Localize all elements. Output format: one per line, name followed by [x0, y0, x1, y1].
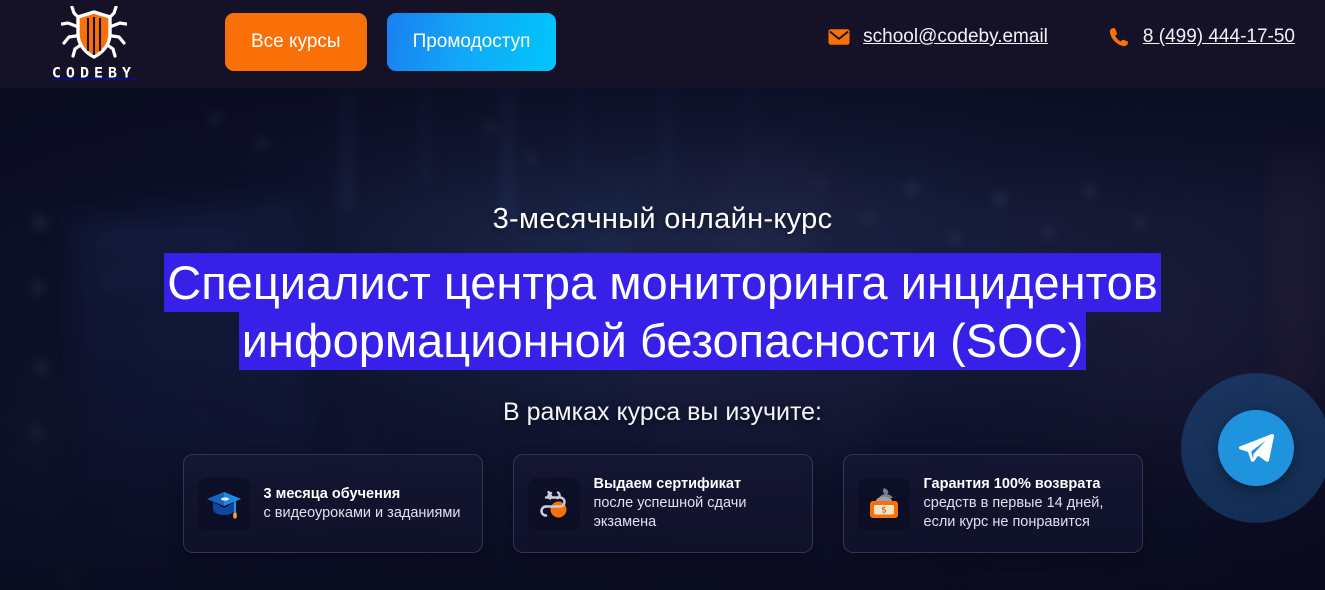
feature-card-guarantee[interactable]: $ Гарантия 100% возврата средств в первы… — [843, 454, 1143, 553]
feature-card-title: 3 месяца обучения — [264, 485, 461, 504]
hero-eyebrow: 3-месячный онлайн-курс — [493, 203, 833, 236]
feature-card-desc: после успешной сдачи экзамена — [594, 494, 798, 532]
brand-logo[interactable]: CODEBY — [42, 4, 146, 84]
feature-card-desc: с видеоуроками и заданиями — [264, 504, 461, 523]
phone-icon — [1108, 26, 1130, 48]
money-back-icon: $ — [858, 478, 910, 530]
page-title: Специалист центра мониторинга инцидентов… — [93, 254, 1233, 370]
telegram-paper-plane-icon — [1237, 429, 1275, 467]
feature-card-list: 3 месяца обучения с видеоуроками и задан… — [183, 454, 1143, 553]
header-nav-buttons: Все курсы Промодоступ — [225, 13, 556, 71]
email-value: school@codeby.email — [863, 26, 1048, 48]
graduation-cap-icon — [198, 478, 250, 530]
page-title-line-2: информационной безопасности (SOC) — [242, 314, 1084, 367]
promo-access-button[interactable]: Промодоступ — [387, 13, 557, 71]
header-contacts: school@codeby.email 8 (499) 444-17-50 — [828, 26, 1295, 48]
feature-card-duration[interactable]: 3 месяца обучения с видеоуроками и задан… — [183, 454, 483, 553]
telegram-floating-widget — [1181, 373, 1325, 523]
landing-page: CODEBY Все курсы Промодоступ school@code… — [0, 0, 1325, 590]
hero-subtitle: В рамках курса вы изучите: — [503, 398, 822, 427]
envelope-icon — [828, 26, 850, 48]
feature-card-title: Выдаем сертификат — [594, 475, 798, 494]
spider-shield-icon — [61, 6, 127, 62]
feature-card-text: 3 месяца обучения с видеоуроками и задан… — [264, 485, 461, 523]
site-header: CODEBY Все курсы Промодоступ school@code… — [0, 0, 1325, 88]
telegram-contact-button[interactable] — [1218, 410, 1294, 486]
all-courses-button[interactable]: Все курсы — [225, 13, 367, 71]
phone-contact[interactable]: 8 (499) 444-17-50 — [1108, 26, 1295, 48]
feature-card-title: Гарантия 100% возврата — [924, 475, 1128, 494]
feature-card-text: Выдаем сертификат после успешной сдачи э… — [594, 475, 798, 532]
svg-text:$: $ — [881, 505, 887, 515]
brand-wordmark: CODEBY — [52, 65, 136, 82]
hero-content: 3-месячный онлайн-курс Специалист центра… — [0, 88, 1325, 590]
feature-card-desc: средств в первые 14 дней, если курс не п… — [924, 494, 1128, 532]
email-contact[interactable]: school@codeby.email — [828, 26, 1048, 48]
page-title-line-1: Специалист центра мониторинга инцидентов — [167, 256, 1157, 309]
certificate-scroll-icon — [528, 478, 580, 530]
feature-card-certificate[interactable]: Выдаем сертификат после успешной сдачи э… — [513, 454, 813, 553]
hero-section: 3-месячный онлайн-курс Специалист центра… — [0, 88, 1325, 590]
phone-value: 8 (499) 444-17-50 — [1143, 26, 1295, 48]
feature-card-text: Гарантия 100% возврата средств в первые … — [924, 475, 1128, 532]
